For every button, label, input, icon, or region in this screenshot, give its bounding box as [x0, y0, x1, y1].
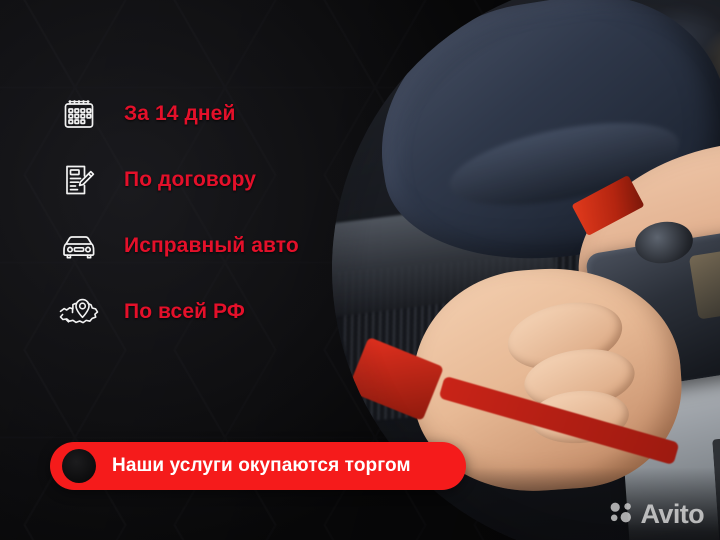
bullet-dot-icon	[62, 449, 96, 483]
calendar-icon	[56, 92, 102, 136]
feature-item-contract: По договору	[56, 158, 299, 202]
avito-watermark: Avito	[609, 501, 705, 528]
promo-banner[interactable]: Наши услуги окупаются торгом	[50, 442, 466, 490]
promo-banner-text: Наши услуги окупаются торгом	[112, 455, 411, 477]
advertisement-card: За 14 дней По договору	[0, 0, 720, 540]
russia-map-pin-icon	[56, 290, 102, 334]
feature-label: По договору	[124, 168, 256, 192]
avito-wordmark: Avito	[641, 501, 705, 528]
feature-label: За 14 дней	[124, 102, 235, 126]
feature-label: По всей РФ	[124, 300, 245, 324]
car-front-icon	[56, 224, 102, 268]
feature-label: Исправный авто	[124, 234, 299, 258]
document-pen-icon	[56, 158, 102, 202]
feature-list: За 14 дней По договору	[56, 92, 299, 334]
feature-item-deadline: За 14 дней	[56, 92, 299, 136]
feature-item-working-car: Исправный авто	[56, 224, 299, 268]
avito-dots-logo-icon	[609, 501, 635, 528]
feature-item-coverage: По всей РФ	[56, 290, 299, 334]
